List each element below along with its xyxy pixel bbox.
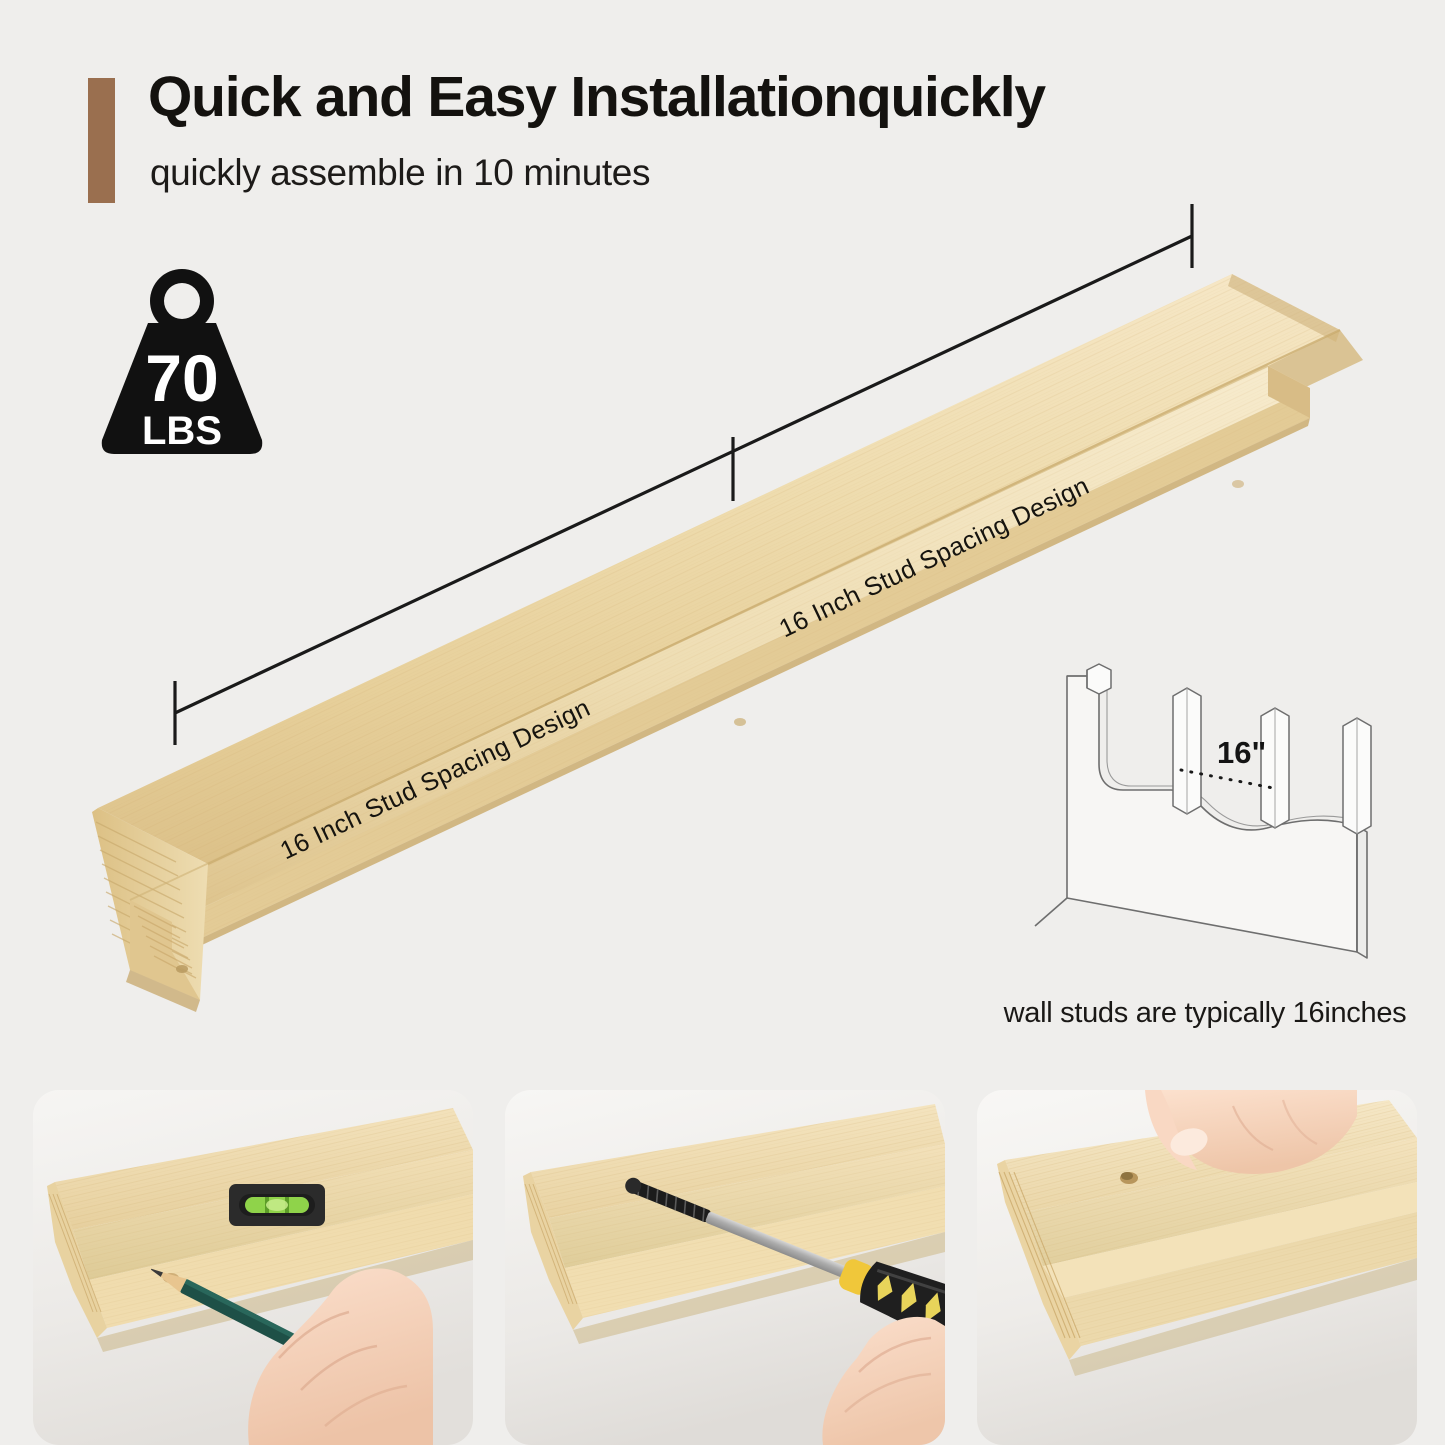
installation-steps-photo-row (0, 1090, 1445, 1445)
accent-bar (88, 78, 115, 203)
page-subtitle: quickly assemble in 10 minutes (150, 152, 650, 194)
screw-hole (1232, 480, 1244, 488)
stud-diagram-caption: wall studs are typically 16inches (990, 997, 1420, 1030)
wall-stud-diagram: 16" (995, 630, 1415, 970)
photo-mount-shelf-on-wall (977, 1090, 1417, 1445)
photo-mark-with-pencil-and-level (33, 1090, 473, 1445)
stud-spacing-measurement-text: 16" (1217, 735, 1266, 770)
drywall-cutaway (1067, 676, 1357, 952)
screw-hole (176, 965, 188, 973)
photo-drive-screw-with-screwdriver (505, 1090, 945, 1445)
header: Quick and Easy Installationquickly quick… (0, 0, 1445, 230)
bubble-level-tool (229, 1184, 325, 1226)
screw-hole (734, 718, 746, 726)
page-title: Quick and Easy Installationquickly (148, 68, 1045, 128)
